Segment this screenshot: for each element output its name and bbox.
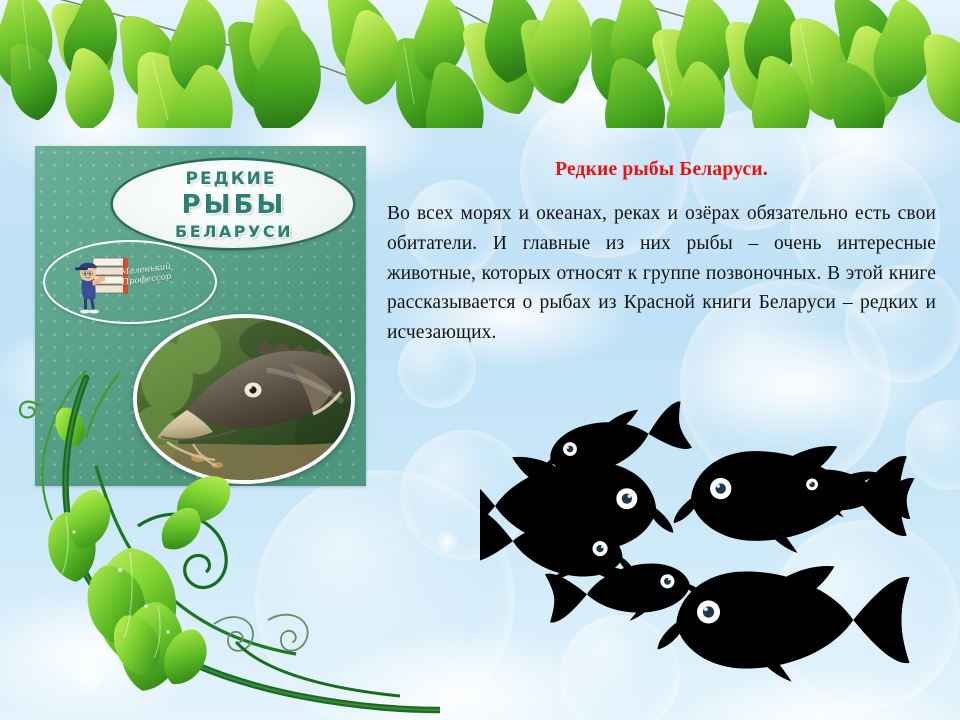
page-title: Редкие рыбы Беларуси. <box>387 158 936 181</box>
book-cover-image: РЕДКИЕ РЫБЫ БЕЛАРУСИ <box>35 146 366 486</box>
body-paragraph: Во всех морях и океанах, реках и озёрах … <box>387 199 936 347</box>
cover-title-text: РЕДКИЕ РЫБЫ БЕЛАРУСИ <box>123 164 345 246</box>
slide-canvas: РЕДКИЕ РЫБЫ БЕЛАРУСИ <box>0 0 960 720</box>
cover-title-line-3: БЕЛАРУСИ <box>175 222 293 241</box>
page-title-period: . <box>763 159 768 180</box>
cover-fish-photo <box>133 314 355 484</box>
text-column: Редкие рыбы Беларуси. Во всех морях и ок… <box>387 158 936 367</box>
page-title-text: Редкие рыбы Беларуси <box>555 159 763 180</box>
cover-title-line-1: РЕДКИЕ <box>186 169 277 189</box>
cover-title-line-2: РЫБЫ <box>182 190 287 220</box>
